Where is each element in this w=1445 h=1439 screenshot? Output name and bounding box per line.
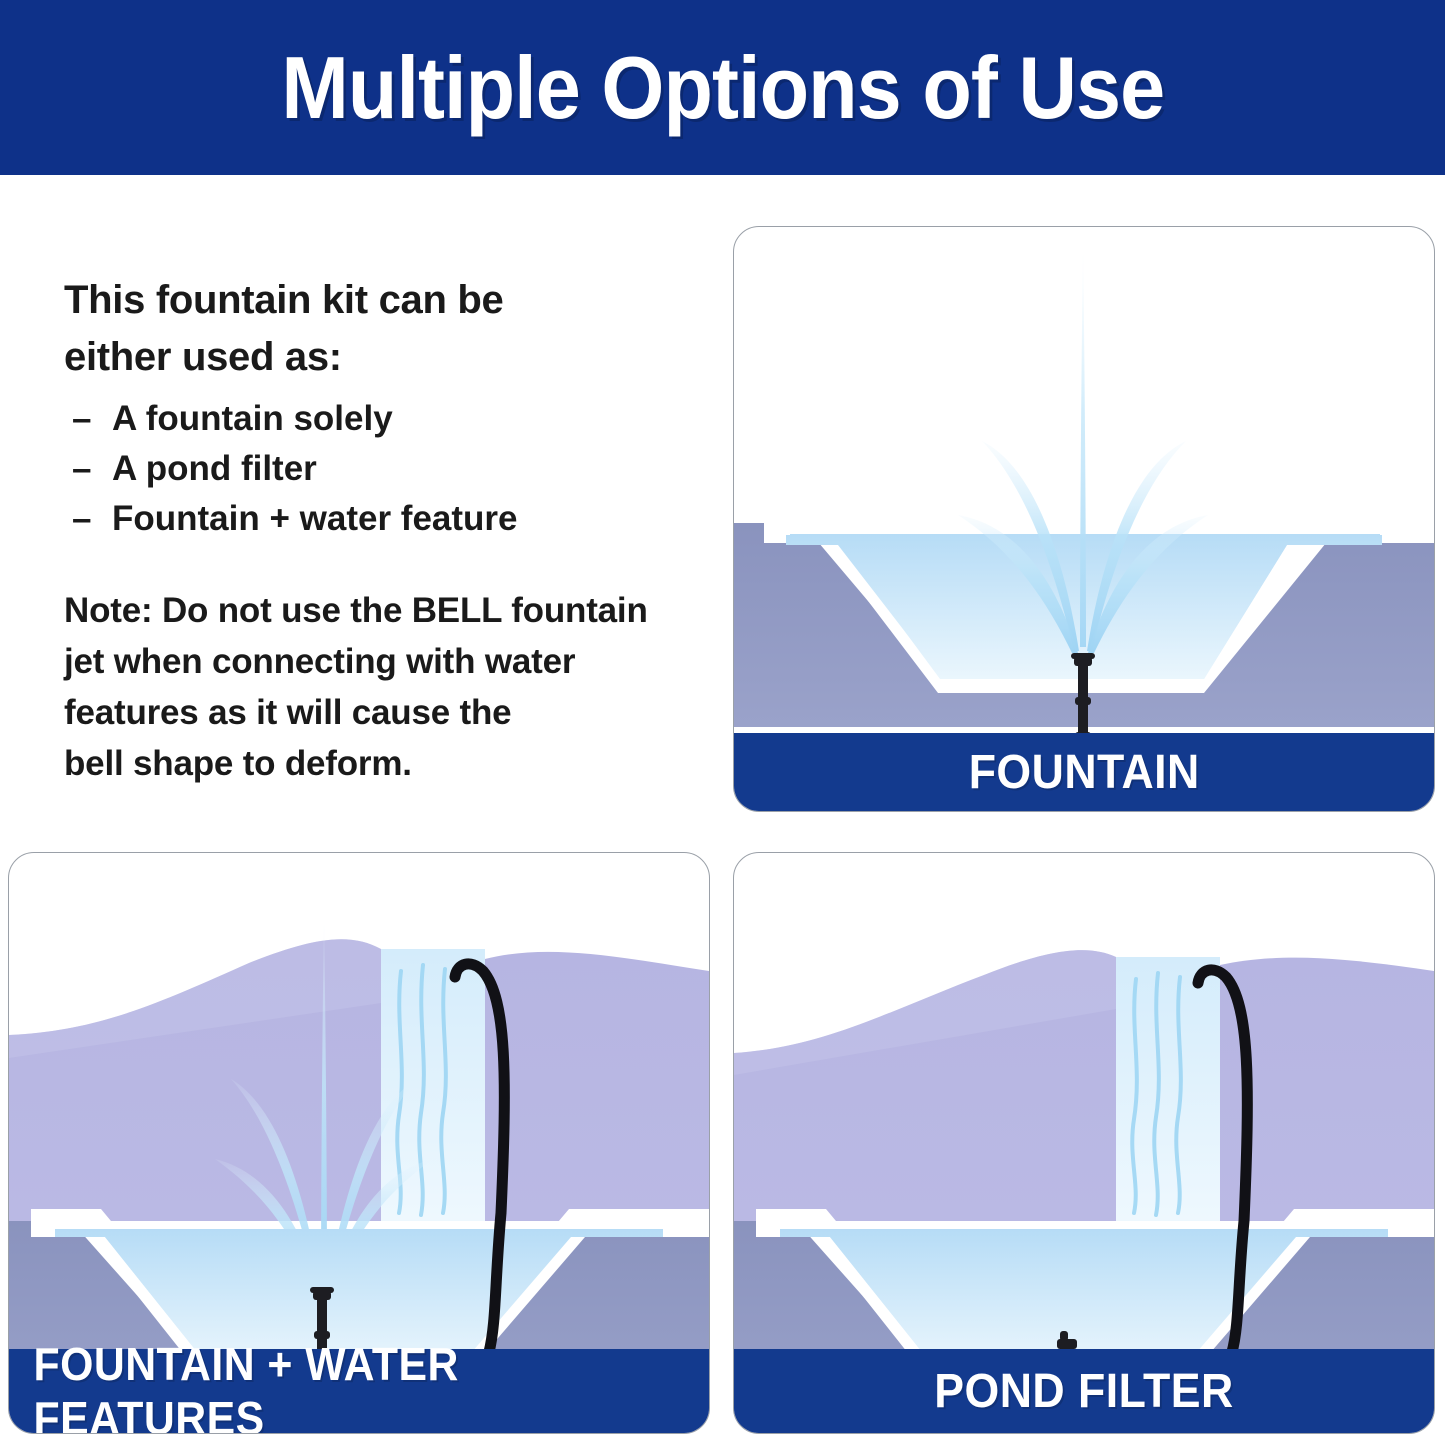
list-item: – A pond filter <box>64 444 704 494</box>
list-item-label: A pond filter <box>112 444 317 494</box>
panel-pond-filter[interactable]: POND FILTER <box>733 852 1435 1434</box>
panel-fountain-water-features[interactable]: FOUNTAIN + WATER FEATURES <box>8 852 710 1434</box>
list-item: – A fountain solely <box>64 394 704 444</box>
list-item: – Fountain + water feature <box>64 494 704 544</box>
panel-label-text: FOUNTAIN <box>968 745 1199 800</box>
panel-label-text: FOUNTAIN + WATER FEATURES <box>34 1337 685 1434</box>
pond-filter-illustration <box>734 853 1434 1433</box>
intro-line-1: This fountain kit can be <box>64 272 704 329</box>
note-line-2: jet when connecting with water <box>64 636 704 687</box>
usage-list: – A fountain solely – A pond filter – Fo… <box>64 394 704 545</box>
list-item-label: Fountain + water feature <box>112 494 518 544</box>
intro-line-2: either used as: <box>64 329 704 386</box>
note-line-1: Note: Do not use the BELL fountain <box>64 585 704 636</box>
panel-fountain[interactable]: FOUNTAIN <box>733 226 1435 812</box>
page-header: Multiple Options of Use <box>0 0 1445 175</box>
note-line-3: features as it will cause the <box>64 687 704 738</box>
panel-label-text: POND FILTER <box>934 1364 1233 1419</box>
page-title: Multiple Options of Use <box>281 44 1164 132</box>
panel-label-pond-filter: POND FILTER <box>734 1349 1434 1433</box>
panel-label-fountain-water-features: FOUNTAIN + WATER FEATURES <box>9 1349 709 1433</box>
note-block: Note: Do not use the BELL fountain jet w… <box>64 585 704 789</box>
note-line-4: bell shape to deform. <box>64 738 704 789</box>
bullet-dash-icon: – <box>72 494 94 544</box>
bullet-dash-icon: – <box>72 444 94 494</box>
fountain-illustration <box>734 227 1434 811</box>
bullet-dash-icon: – <box>72 394 94 444</box>
description-block: This fountain kit can be either used as:… <box>64 272 704 789</box>
panel-label-fountain: FOUNTAIN <box>734 733 1434 811</box>
list-item-label: A fountain solely <box>112 394 393 444</box>
